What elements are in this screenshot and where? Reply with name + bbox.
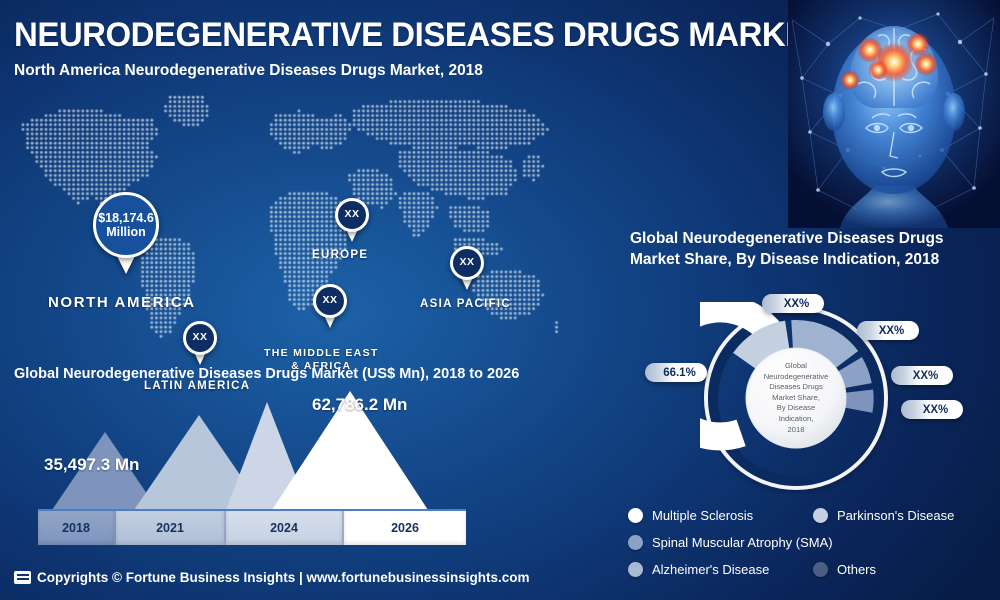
- map-value-na-line1: $18,174.6: [98, 211, 154, 225]
- donut-arc-alzheimers: [850, 364, 858, 385]
- map-label-mea-line1: THE MIDDLE EAST: [264, 347, 379, 360]
- legend-item-others[interactable]: Others: [813, 562, 876, 577]
- donut-value-pill-others[interactable]: XX%: [901, 400, 963, 419]
- donut-center-line-5: Indication,: [744, 414, 848, 425]
- donut-title-line2: Market Share, By Disease Indication, 201…: [630, 249, 980, 270]
- legend-dot-alzheimers: [628, 562, 643, 577]
- human-head-brain-network-icon: [788, 0, 1000, 228]
- infographic-root: NEURODEGENERATIVE DISEASES DRUGS MARKET …: [0, 0, 1000, 600]
- donut-center-line-3: Market Share,: [744, 393, 848, 404]
- map-pin-bubble-latin-america: XX: [183, 321, 217, 355]
- legend-label-multiple-sclerosis: Multiple Sclerosis: [652, 508, 753, 523]
- map-pin-bubble-asia-pacific: XX: [450, 246, 484, 280]
- mountain-year-2021[interactable]: 2021: [116, 511, 226, 545]
- legend-dot-multiple-sclerosis: [628, 508, 643, 523]
- mountain-year-2026[interactable]: 2026: [344, 511, 466, 545]
- legend-dot-sma: [628, 535, 643, 550]
- legend-row-1: Multiple Sclerosis Parkinson's Disease: [628, 508, 988, 523]
- map-pin-bubble-mea: XX: [313, 284, 347, 318]
- page-title: NEURODEGENERATIVE DISEASES DRUGS MARKET: [14, 16, 826, 55]
- donut-center-line-1: Neurodegenerative: [744, 372, 848, 383]
- footer: Copyrights © Fortune Business Insights |…: [14, 570, 530, 585]
- legend-label-others: Others: [837, 562, 876, 577]
- donut-value-pill-multiple-sclerosis[interactable]: 66.1%: [645, 363, 707, 382]
- legend-label-sma: Spinal Muscular Atrophy (SMA): [652, 535, 833, 550]
- legend-dot-parkinsons: [813, 508, 828, 523]
- map-value-na-line2: Million: [106, 225, 146, 239]
- donut-value-pill-alzheimers[interactable]: XX%: [891, 366, 953, 385]
- legend-item-multiple-sclerosis[interactable]: Multiple Sclerosis: [628, 508, 813, 523]
- fortune-business-insights-logo-icon: [14, 571, 31, 584]
- mountain-year-2024[interactable]: 2024: [226, 511, 344, 545]
- donut-center-line-0: Global: [744, 361, 848, 372]
- legend-item-parkinsons[interactable]: Parkinson's Disease: [813, 508, 954, 523]
- mountain-chart-title: Global Neurodegenerative Diseases Drugs …: [14, 366, 519, 382]
- legend-row-2: Spinal Muscular Atrophy (SMA): [628, 535, 988, 550]
- map-pin-middle-east-africa[interactable]: XX: [313, 284, 347, 318]
- map-label-europe: EUROPE: [312, 249, 368, 261]
- donut-center-line-6: 2018: [744, 424, 848, 435]
- footer-copyright-text: Copyrights © Fortune Business Insights |…: [37, 570, 530, 585]
- map-pin-north-america[interactable]: $18,174.6 Million: [93, 192, 159, 258]
- legend-label-alzheimers: Alzheimer's Disease: [652, 562, 769, 577]
- donut-center-text: Global Neurodegenerative Diseases Drugs …: [744, 361, 848, 435]
- legend-dot-others: [813, 562, 828, 577]
- donut-chart-title: Global Neurodegenerative Diseases Drugs …: [630, 228, 980, 270]
- mountain-value-2026: 62,786.2 Mn: [312, 395, 407, 415]
- donut-legend: Multiple Sclerosis Parkinson's Disease S…: [628, 508, 988, 589]
- map-label-north-america: NORTH AMERICA: [48, 294, 196, 311]
- mountain-year-bases: 2018 2021 2024 2026: [38, 511, 466, 545]
- map-pin-latin-america[interactable]: XX: [183, 321, 217, 355]
- world-map: NORTH AMERICA LATIN AMERICA EUROPE THE M…: [0, 88, 560, 358]
- donut-arc-others: [859, 391, 860, 410]
- donut-value-pill-parkinsons[interactable]: XX%: [762, 294, 824, 313]
- legend-label-parkinsons: Parkinson's Disease: [837, 508, 954, 523]
- dotted-world-map: [0, 88, 560, 358]
- donut-value-pill-sma[interactable]: XX%: [857, 321, 919, 340]
- map-pin-europe[interactable]: XX: [335, 198, 369, 232]
- page-subtitle: North America Neurodegenerative Diseases…: [14, 62, 483, 80]
- map-pin-bubble-north-america: $18,174.6 Million: [93, 192, 159, 258]
- legend-item-alzheimers[interactable]: Alzheimer's Disease: [628, 562, 813, 577]
- donut-title-line1: Global Neurodegenerative Diseases Drugs: [630, 228, 980, 249]
- map-pin-asia-pacific[interactable]: XX: [450, 246, 484, 280]
- mountain-value-2018: 35,497.3 Mn: [44, 455, 139, 475]
- legend-row-3: Alzheimer's Disease Others: [628, 562, 988, 577]
- legend-item-sma[interactable]: Spinal Muscular Atrophy (SMA): [628, 535, 833, 550]
- mountain-year-2018[interactable]: 2018: [38, 511, 116, 545]
- map-label-asia-pacific: ASIA PACIFIC: [420, 298, 511, 310]
- donut-center-line-2: Diseases Drugs: [744, 382, 848, 393]
- donut-center-line-4: By Disease: [744, 403, 848, 414]
- map-pin-bubble-europe: XX: [335, 198, 369, 232]
